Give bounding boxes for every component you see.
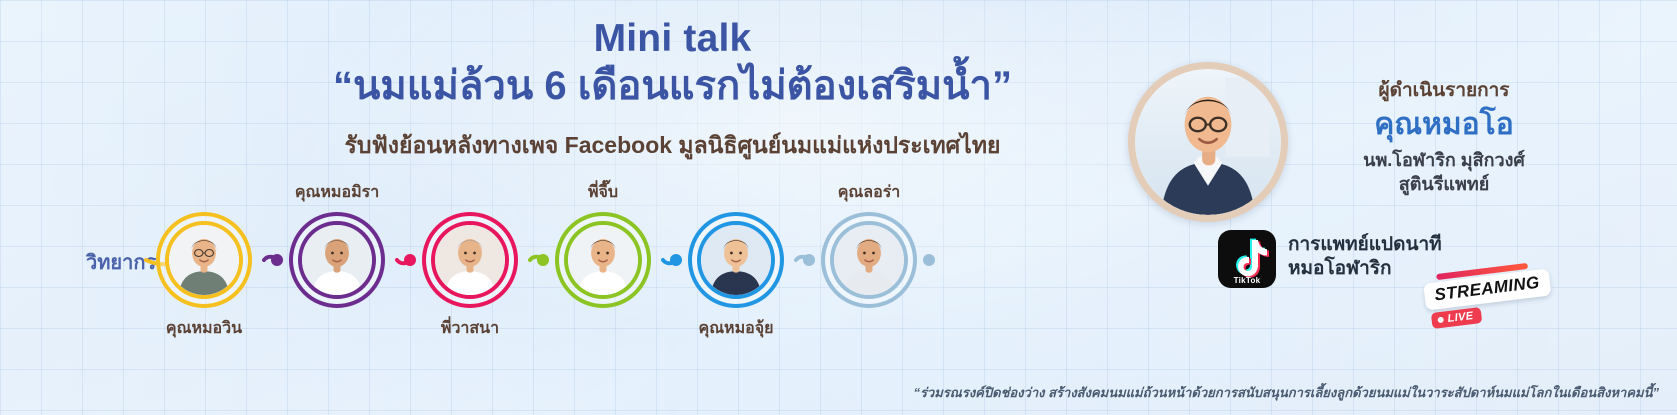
speaker-ring-inner bbox=[830, 221, 908, 299]
channel-name: การแพทย์แปดนาที หมอโอฬาริก bbox=[1288, 230, 1442, 282]
speaker-name: พี่จี๊บ bbox=[588, 180, 618, 205]
speaker-name: คุณหมอวิน bbox=[166, 316, 242, 341]
title-thai: “นมแม่ล้วน 6 เดือนแรกไม่ต้องเสริมน้ำ” bbox=[170, 62, 1175, 112]
speaker-node: คุณหมอจุ้ย bbox=[688, 212, 784, 308]
connector-dot bbox=[271, 254, 283, 266]
channel-line-2: หมอโอฬาริก bbox=[1288, 257, 1442, 281]
host-role: ผู้ดำเนินรายการ bbox=[1304, 80, 1584, 103]
streaming-badge: STREAMING LIVE bbox=[1422, 261, 1553, 330]
connector-dot bbox=[537, 254, 549, 266]
speaker-avatar bbox=[701, 225, 771, 295]
title-english: Mini talk bbox=[170, 18, 1175, 60]
live-dot-icon bbox=[1437, 317, 1444, 324]
speaker-node: คุณหมอวิน bbox=[156, 212, 252, 308]
host-fullname: นพ.โอฬาริก มุสิกวงศ์ bbox=[1304, 149, 1584, 172]
speaker-ring-inner bbox=[564, 221, 642, 299]
speaker-node: คุณลอร่า bbox=[821, 212, 917, 308]
live-badge: LIVE bbox=[1431, 307, 1483, 329]
speaker-name: คุณหมอจุ้ย bbox=[699, 316, 774, 341]
speaker-name: พี่วาสนา bbox=[441, 316, 499, 341]
speaker-avatar bbox=[568, 225, 638, 295]
host-photo-frame bbox=[1128, 62, 1288, 222]
tiktok-icon[interactable]: TikTok bbox=[1218, 230, 1276, 288]
connector-dot bbox=[670, 254, 682, 266]
connector-dot bbox=[803, 254, 815, 266]
connector-dot-end bbox=[923, 254, 935, 266]
speaker-avatar bbox=[302, 225, 372, 295]
live-label: LIVE bbox=[1447, 310, 1474, 325]
headline-block: Mini talk “นมแม่ล้วน 6 เดือนแรกไม่ต้องเส… bbox=[170, 18, 1175, 164]
host-text-block: ผู้ดำเนินรายการ คุณหมอโอ นพ.โอฬาริก มุสิ… bbox=[1304, 80, 1584, 196]
speaker-avatar bbox=[435, 225, 505, 295]
speaker-node: พี่วาสนา bbox=[422, 212, 518, 308]
speakers-timeline: วิทยากร คุณหมอวินคุณหมอมิราพี่วาสนาพี่จี… bbox=[0, 178, 1040, 353]
promo-banner: Mini talk “นมแม่ล้วน 6 เดือนแรกไม่ต้องเส… bbox=[0, 0, 1677, 415]
speaker-avatar bbox=[834, 225, 904, 295]
speaker-avatar bbox=[169, 225, 239, 295]
bottom-tagline: “ร่วมรณรงค์ปิดช่องว่าง สร้างสังคมนมแม่ถ้… bbox=[913, 382, 1659, 403]
speaker-ring-inner bbox=[298, 221, 376, 299]
speaker-ring-inner bbox=[697, 221, 775, 299]
speaker-name: คุณหมอมิรา bbox=[295, 180, 379, 205]
speaker-ring-inner bbox=[431, 221, 509, 299]
tiktok-wordmark: TikTok bbox=[1218, 276, 1276, 285]
channel-line-1: การแพทย์แปดนาที bbox=[1288, 233, 1442, 257]
host-name: คุณหมอโอ bbox=[1304, 106, 1584, 144]
host-specialty: สูตินรีแพทย์ bbox=[1304, 173, 1584, 196]
speaker-ring-inner bbox=[165, 221, 243, 299]
speaker-node: คุณหมอมิรา bbox=[289, 212, 385, 308]
social-block: TikTok การแพทย์แปดนาที หมอโอฬาริก bbox=[1218, 230, 1442, 288]
speaker-node: พี่จี๊บ bbox=[555, 212, 651, 308]
connector-dot bbox=[404, 254, 416, 266]
subtitle: รับฟังย้อนหลังทางเพจ Facebook มูลนิธิศูน… bbox=[170, 128, 1175, 164]
host-avatar bbox=[1135, 69, 1281, 215]
speaker-name: คุณลอร่า bbox=[838, 180, 901, 205]
